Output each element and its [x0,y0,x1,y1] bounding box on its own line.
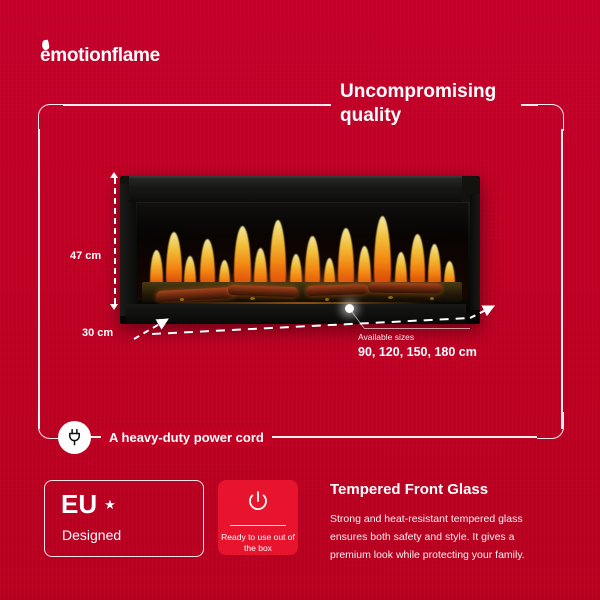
ember-dot [430,297,434,300]
infographic-canvas: emotionflame Uncompromising quality [0,0,600,600]
power-cord-feature: A heavy-duty power cord [58,421,272,454]
frame-corner-bottom-right [537,412,564,439]
fireplace-left-wall [120,184,137,316]
ember-dot [388,296,393,299]
feature-description: Strong and heat-resistant tempered glass… [330,510,545,564]
power-plug-icon [58,421,91,454]
height-dimension-line [114,178,116,304]
fireplace-base [126,304,466,324]
eu-label: EU [61,491,97,517]
frame-right-edge [561,129,563,429]
feature-title: Tempered Front Glass [330,481,488,498]
ready-to-use-text: Ready to use out of the box [218,532,298,555]
ready-to-use-badge: Ready to use out of the box [218,480,298,555]
frame-left-edge [38,129,40,429]
frame-top-left-segment [63,104,331,106]
size-callout-rule [364,328,470,329]
size-callout-dot [345,304,354,313]
fireplace-right-edge [470,194,480,310]
eu-designed-badge: EU ★ Designed [44,480,204,557]
eu-badge-header: EU ★ [61,491,116,517]
ember-dot [325,298,329,301]
available-sizes-label: Available sizes [358,332,414,342]
height-dimension-label: 47 cm [70,250,101,262]
height-arrow-bottom [110,304,118,310]
star-icon: ★ [104,498,116,511]
brand-logo: emotionflame [40,46,160,65]
card-divider [230,525,286,526]
ember-dot [180,298,184,301]
power-cord-label: A heavy-duty power cord [101,430,272,445]
log-graphic [368,282,442,293]
fireplace-hood-lip [129,176,462,180]
page-title: Uncompromising quality [340,80,555,129]
power-button-icon [246,489,270,518]
depth-dimension-label: 30 cm [82,327,113,339]
flame-icon [41,39,50,50]
brand-name: emotionflame [40,46,160,65]
available-sizes-value: 90, 120, 150, 180 cm [358,345,477,359]
fireplace-top-hood [129,176,462,202]
ember-dot [250,297,255,300]
product-image [120,176,480,324]
eu-subtitle: Designed [62,527,121,543]
frame-corner-top-left [38,104,65,131]
